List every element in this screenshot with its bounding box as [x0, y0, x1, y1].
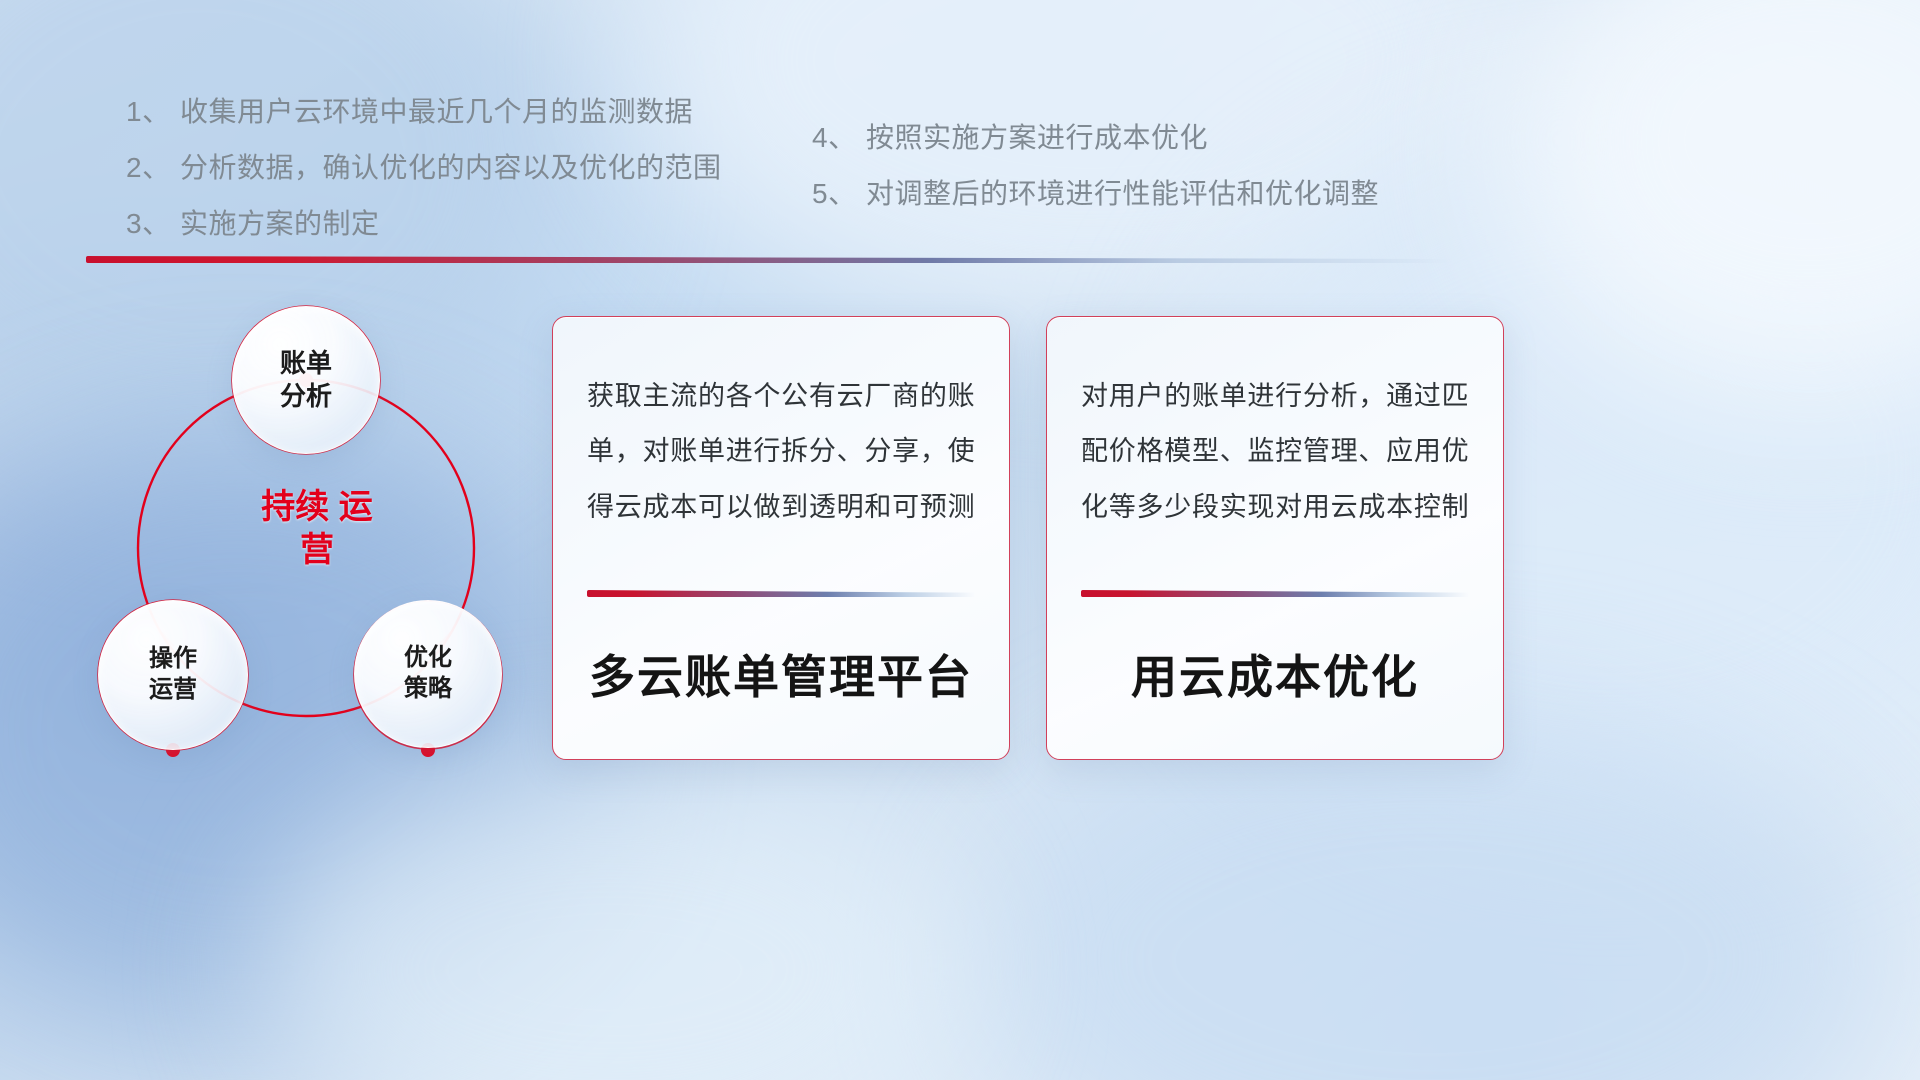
- section-divider-rule: [86, 256, 1450, 263]
- continuous-operation-diagram: 账单 分析 操作 运营 优化 策略 持续 运营: [86, 290, 546, 780]
- card-body-text: 对用户的账单进行分析，通过匹配价格模型、监控管理、应用优化等多少段实现对用云成本…: [1081, 369, 1469, 535]
- bubble-label-line1: 操作: [149, 644, 197, 675]
- diagram-center-label: 持续 运营: [254, 486, 380, 571]
- card-multi-cloud-billing-platform[interactable]: 获取主流的各个公有云厂商的账单，对账单进行拆分、分享，使得云成本可以做到透明和可…: [552, 316, 1010, 760]
- step-text: 按照实施方案进行成本优化: [866, 124, 1208, 152]
- step-number: 1、: [126, 98, 180, 126]
- step-number: 4、: [812, 124, 866, 152]
- center-label-line1: 持续: [261, 488, 329, 526]
- card-cloud-cost-optimization[interactable]: 对用户的账单进行分析，通过匹配价格模型、监控管理、应用优化等多少段实现对用云成本…: [1046, 316, 1504, 760]
- step-item-3: 3、 实施方案的制定: [126, 210, 722, 238]
- step-text: 收集用户云环境中最近几个月的监测数据: [180, 98, 693, 126]
- card-accent-rule: [1081, 590, 1469, 597]
- background-blob: [260, 760, 960, 1080]
- step-item-2: 2、 分析数据，确认优化的内容以及优化的范围: [126, 154, 722, 182]
- bubble-label-line1: 优化: [404, 643, 452, 674]
- diagram-bubble-optimization-strategy[interactable]: 优化 策略: [354, 600, 502, 748]
- step-item-5: 5、 对调整后的环境进行性能评估和优化调整: [812, 180, 1379, 208]
- bubble-label-line2: 分析: [280, 380, 332, 413]
- bubble-label-line1: 账单: [280, 347, 332, 380]
- card-title: 用云成本优化: [1081, 597, 1469, 759]
- bubble-label-line2: 策略: [404, 674, 452, 705]
- step-number: 5、: [812, 180, 866, 208]
- step-number: 3、: [126, 210, 180, 238]
- steps-right-column: 4、 按照实施方案进行成本优化 5、 对调整后的环境进行性能评估和优化调整: [812, 124, 1379, 236]
- bubble-label-line2: 运营: [149, 675, 197, 706]
- step-item-4: 4、 按照实施方案进行成本优化: [812, 124, 1379, 152]
- step-item-1: 1、 收集用户云环境中最近几个月的监测数据: [126, 98, 722, 126]
- step-text: 分析数据，确认优化的内容以及优化的范围: [180, 154, 722, 182]
- slide-canvas: 1、 收集用户云环境中最近几个月的监测数据 2、 分析数据，确认优化的内容以及优…: [0, 0, 1920, 1080]
- diagram-bubble-operations[interactable]: 操作 运营: [98, 600, 248, 750]
- card-title: 多云账单管理平台: [587, 597, 975, 759]
- step-text: 对调整后的环境进行性能评估和优化调整: [866, 180, 1379, 208]
- card-accent-rule: [587, 590, 975, 597]
- step-number: 2、: [126, 154, 180, 182]
- step-text: 实施方案的制定: [180, 210, 380, 238]
- steps-left-column: 1、 收集用户云环境中最近几个月的监测数据 2、 分析数据，确认优化的内容以及优…: [126, 98, 722, 266]
- diagram-bubble-bill-analysis[interactable]: 账单 分析: [232, 306, 380, 454]
- card-body-text: 获取主流的各个公有云厂商的账单，对账单进行拆分、分享，使得云成本可以做到透明和可…: [587, 369, 975, 535]
- background-blob: [1500, 0, 1920, 400]
